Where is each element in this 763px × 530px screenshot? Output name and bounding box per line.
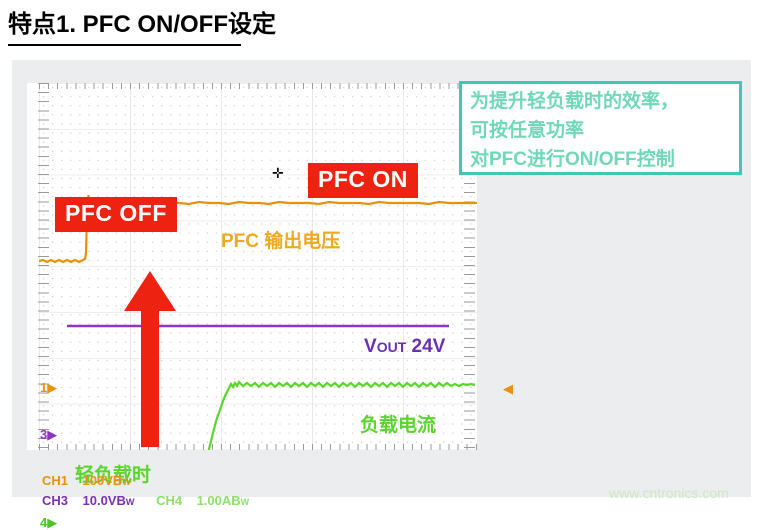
label-vout-24v: VOUT 24V bbox=[364, 336, 445, 358]
status-ch1-label: CH1 bbox=[42, 473, 68, 488]
status-ch3-scale: 10.0VB bbox=[83, 493, 126, 508]
callout-line-3: 对PFC进行ON/OFF控制 bbox=[470, 145, 742, 174]
site-watermark: www.cntronics.com bbox=[609, 485, 729, 501]
status-ch3-bw: W bbox=[126, 497, 135, 507]
scope-status-bar: CH1 100VBW CH3 10.0VBW CH4 1.00ABW bbox=[42, 473, 492, 515]
trigger-position-icon[interactable]: ✛ bbox=[272, 168, 284, 178]
label-load-current: 负载电流 bbox=[360, 410, 436, 437]
title-underline bbox=[8, 44, 241, 46]
vout-subscript: OUT bbox=[377, 339, 407, 355]
badge-pfc-on: PFC ON bbox=[308, 163, 418, 198]
status-ch4-scale: 1.00AB bbox=[197, 493, 241, 508]
channel-marker-ch1[interactable]: 1▶ bbox=[40, 382, 57, 394]
callout-box: 为提升轻负载时的效率， 可按任意功率 对PFC进行ON/OFF控制 bbox=[459, 81, 742, 175]
status-row-ch3-ch4: CH3 10.0VBW CH4 1.00ABW bbox=[42, 493, 249, 508]
status-ch1-scale: 100VB bbox=[83, 473, 123, 488]
page-title: 特点1. PFC ON/OFF设定 bbox=[8, 8, 248, 42]
status-ch4-label: CH4 bbox=[156, 493, 182, 508]
callout-line-2: 可按任意功率 bbox=[470, 116, 742, 145]
badge-pfc-off: PFC OFF bbox=[55, 197, 177, 232]
status-ch3-label: CH3 bbox=[42, 493, 68, 508]
callout-line-1: 为提升轻负载时的效率， bbox=[470, 87, 742, 116]
status-ch1-bw: W bbox=[122, 477, 131, 487]
label-pfc-output-voltage: PFC 输出电压 bbox=[221, 226, 340, 253]
red-up-arrow-annotation bbox=[123, 271, 177, 447]
status-row-ch1: CH1 100VBW bbox=[42, 473, 131, 488]
channel-marker-ch3[interactable]: 3▶ bbox=[40, 429, 57, 441]
vout-value: 24V bbox=[412, 336, 446, 357]
callout-text: 为提升轻负载时的效率， 可按任意功率 对PFC进行ON/OFF控制 bbox=[470, 87, 742, 174]
channel-marker-ch4[interactable]: 4▶ bbox=[40, 517, 57, 529]
title-bar: 特点1. PFC ON/OFF设定 bbox=[8, 8, 248, 46]
channel-marker-right-arrow[interactable]: ◀ bbox=[503, 381, 513, 397]
figure-panel: 1▶ 3▶ 4▶ ◀ ✛ PFC OFF PFC ON PFC 输出电压 VOU… bbox=[12, 60, 751, 497]
status-ch4-bw: W bbox=[241, 497, 250, 507]
waveform-traces bbox=[39, 83, 477, 450]
vout-prefix: V bbox=[364, 336, 377, 357]
oscilloscope-screen: 1▶ 3▶ 4▶ ◀ ✛ PFC OFF PFC ON PFC 输出电压 VOU… bbox=[27, 83, 477, 450]
